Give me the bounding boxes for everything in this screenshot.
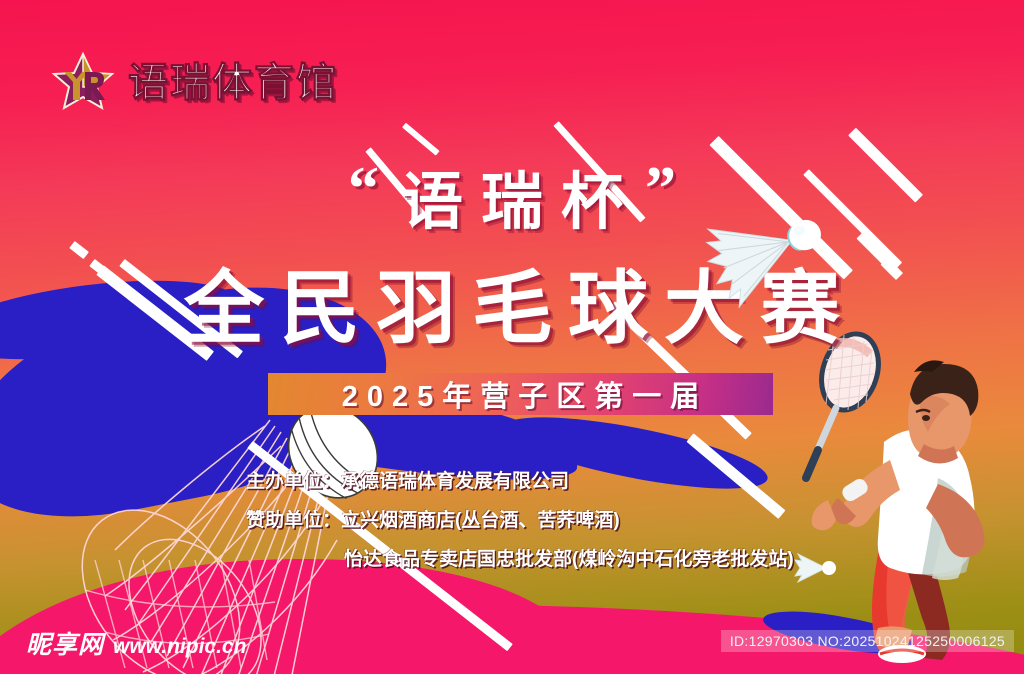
decorative-slash [119,259,243,358]
brand-header: 语瑞体育馆 [52,52,338,114]
decorative-slash [69,241,89,259]
organizer-line: 赞助单位：立兴烟酒商店(丛台酒、苦荞啤酒) [246,511,846,530]
badminton-racket-icon [806,327,888,478]
decorative-slash [365,147,424,216]
decorative-slash [609,301,752,439]
decorative-slash [880,257,903,280]
brand-name: 语瑞体育馆 [128,63,338,103]
decorative-slash [402,123,440,156]
organizer-line: 主办单位：承德语瑞体育发展有限公司 [246,472,846,491]
star-logo-icon [52,52,114,114]
poster-canvas: 语瑞体育馆 “ 语瑞杯 ” 全民羽毛球大赛 2025年营子区第一届 主办单位：承… [0,0,1024,674]
shuttlecock-icon [698,196,828,306]
site-watermark: 昵享网 www.nipic.cn [26,633,246,658]
decorative-slash [848,128,923,203]
decorative-slash [856,231,893,268]
asset-id-badge: ID:12970303 NO:20251024125250006125 [721,630,1014,652]
decorative-slash [553,121,645,222]
decorative-slash [96,265,214,361]
subtitle-banner: 2025年营子区第一届 [268,373,773,415]
subtitle-text: 2025年营子区第一届 [333,373,709,415]
decorative-slash [89,259,109,277]
watermark-url: www.nipic.cn [113,636,246,657]
watermark-brand: 昵享网 [26,633,104,658]
